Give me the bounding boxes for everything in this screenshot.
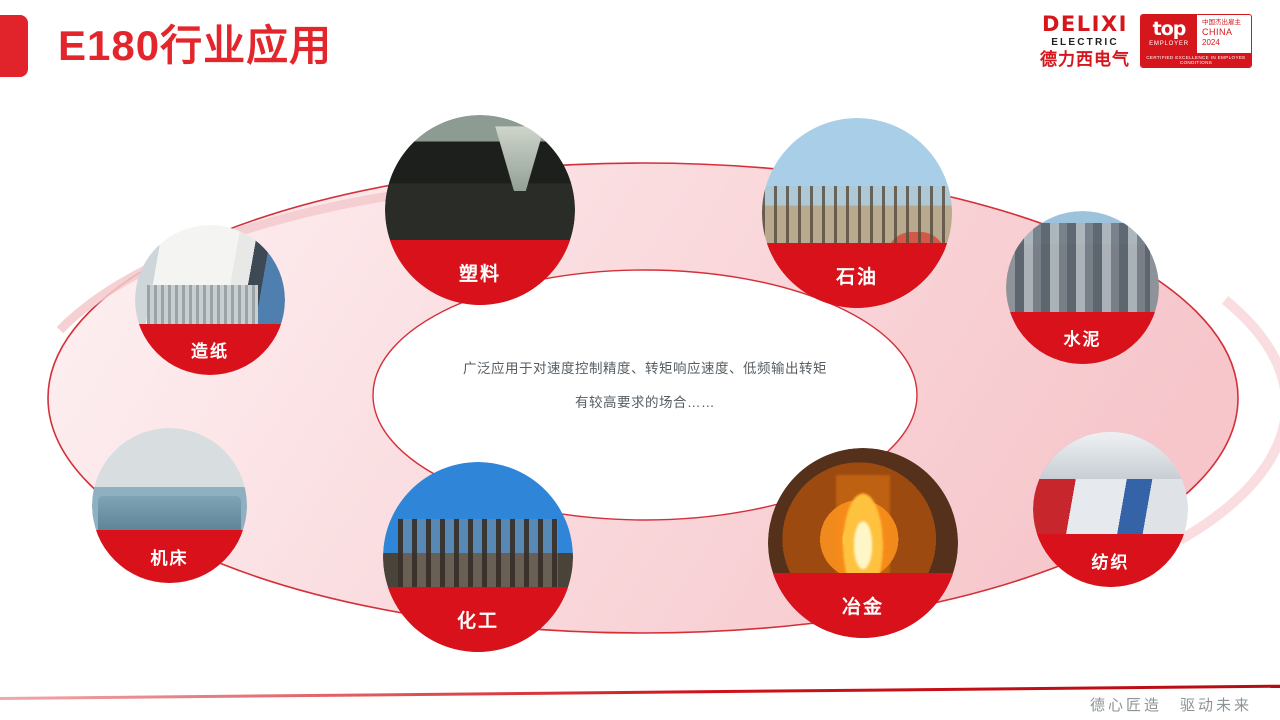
industry-label-plastic: 塑料 [385, 240, 575, 305]
industry-label-textile: 纺织 [1033, 534, 1188, 587]
industry-label-cement: 水泥 [1006, 312, 1159, 364]
industry-bubble-chemical[interactable]: 化工 [383, 462, 573, 652]
industry-bubble-oil[interactable]: 石油 [762, 118, 952, 308]
footer-slogan: 德心匠造 驱动未来 [1090, 694, 1252, 715]
caption-line-2: 有较高要求的场合…… [395, 386, 895, 420]
industry-label-chemical: 化工 [383, 587, 573, 652]
industry-bubble-textile[interactable]: 纺织 [1033, 432, 1188, 587]
industry-bubble-machine[interactable]: 机床 [92, 428, 247, 583]
industry-bubble-metal[interactable]: 冶金 [768, 448, 958, 638]
footer-slogan-left: 德心匠造 [1090, 694, 1162, 715]
slide-canvas: E180行业应用 DELIXI ELECTRIC 德力西电气 top EMPLO… [0, 0, 1280, 720]
industry-bubble-cement[interactable]: 水泥 [1006, 211, 1159, 364]
center-caption: 广泛应用于对速度控制精度、转矩响应速度、低频输出转矩 有较高要求的场合…… [395, 352, 895, 420]
industry-label-machine: 机床 [92, 530, 247, 583]
caption-line-1: 广泛应用于对速度控制精度、转矩响应速度、低频输出转矩 [395, 352, 895, 386]
footer-slogan-right: 驱动未来 [1180, 694, 1252, 715]
industry-bubble-plastic[interactable]: 塑料 [385, 115, 575, 305]
industry-bubble-paper[interactable]: 造纸 [135, 225, 285, 375]
industry-label-oil: 石油 [762, 243, 952, 308]
industry-label-metal: 冶金 [768, 573, 958, 638]
industry-label-paper: 造纸 [135, 324, 285, 375]
